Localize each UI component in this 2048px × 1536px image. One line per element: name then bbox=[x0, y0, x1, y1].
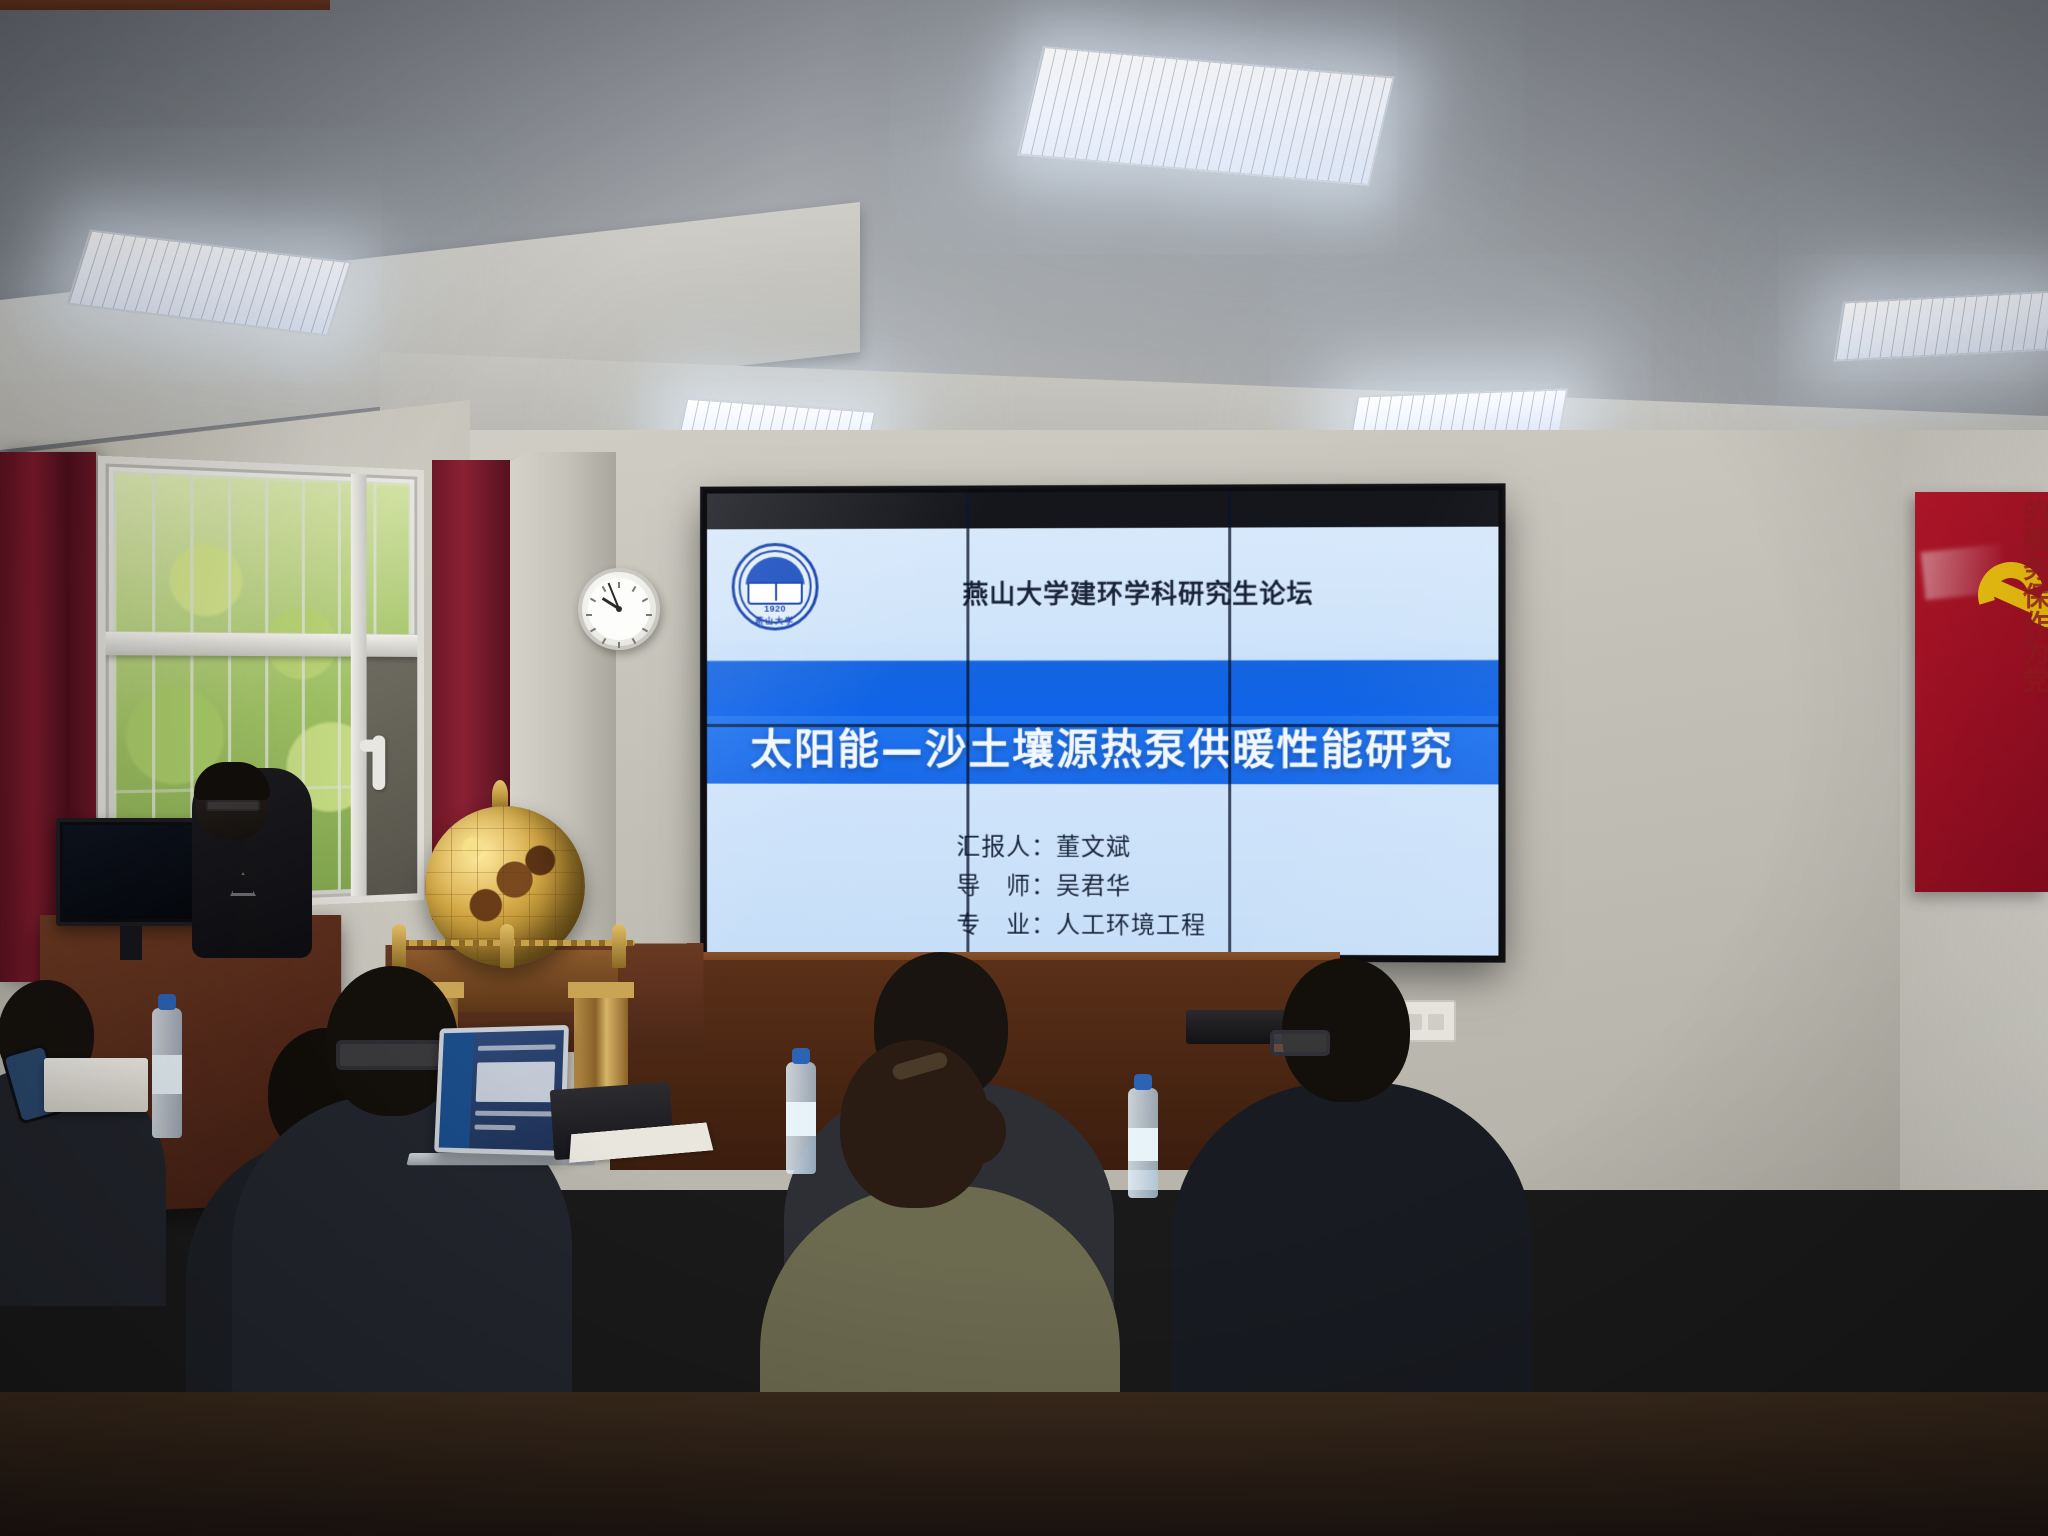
window-mullion-vertical bbox=[351, 474, 367, 896]
audience-hair-bun bbox=[948, 1098, 1006, 1164]
water-bottle bbox=[152, 1008, 182, 1138]
decor-pillar-cap bbox=[568, 982, 634, 998]
slide-meta-advisor: 导 师：吴君华 bbox=[956, 867, 1206, 907]
video-wall-display[interactable]: 1920 燕山大学 燕山大学建环学科研究生论坛 太阳能—沙土壤源热泵供暖性能研究… bbox=[703, 486, 1502, 959]
foreground-table bbox=[0, 1392, 2048, 1536]
window-handle[interactable] bbox=[373, 735, 386, 790]
wall-clock bbox=[578, 568, 660, 650]
yanshan-university-logo: 1920 燕山大学 bbox=[732, 543, 819, 631]
video-wall-screen[interactable]: 1920 燕山大学 燕山大学建环学科研究生论坛 太阳能—沙土壤源热泵供暖性能研究… bbox=[707, 490, 1498, 955]
monitor-stand bbox=[120, 926, 142, 960]
audience-glasses bbox=[336, 1040, 448, 1070]
chain-post bbox=[500, 924, 514, 968]
slide-header-text: 燕山大学建环学科研究生论坛 bbox=[962, 573, 1313, 611]
slide-letterbox-bar bbox=[707, 490, 1498, 529]
presentation-slide: 1920 燕山大学 燕山大学建环学科研究生论坛 太阳能—沙土壤源热泵供暖性能研究… bbox=[707, 527, 1498, 956]
video-wall-seam bbox=[1228, 491, 1231, 954]
paper-box bbox=[44, 1058, 148, 1112]
window-mullion-horizontal bbox=[106, 632, 418, 657]
audience-laptop[interactable] bbox=[434, 1025, 569, 1156]
water-bottle bbox=[786, 1062, 816, 1174]
water-bottle bbox=[1128, 1088, 1158, 1198]
chain-post bbox=[612, 924, 626, 968]
slide-presenter-info: 汇报人：董文斌 导 师：吴君华 专 业：人工环境工程 bbox=[956, 828, 1206, 945]
slide-meta-presenter: 汇报人：董文斌 bbox=[956, 828, 1206, 867]
laptop-screen[interactable] bbox=[439, 1030, 564, 1151]
slide-meta-major: 专 业：人工环境工程 bbox=[956, 905, 1206, 945]
clock-face bbox=[588, 578, 650, 640]
ceiling-light-fixture bbox=[1833, 290, 2048, 362]
clock-center-pin bbox=[616, 606, 622, 612]
presenter-glasses bbox=[206, 800, 260, 811]
party-oath-wall-text: 的纲务保作为党 bbox=[1952, 498, 2048, 748]
video-wall-seam bbox=[707, 724, 1498, 727]
decorative-chain-rail bbox=[395, 940, 635, 946]
logo-year-label: 1920 bbox=[732, 603, 819, 613]
podium-top bbox=[0, 0, 330, 10]
audience-glasses bbox=[1270, 1030, 1330, 1056]
conference-room-scene: 的纲务保作为党 bbox=[0, 0, 2048, 1536]
logo-chinese-label: 燕山大学 bbox=[732, 616, 819, 627]
chain-post bbox=[392, 924, 406, 968]
